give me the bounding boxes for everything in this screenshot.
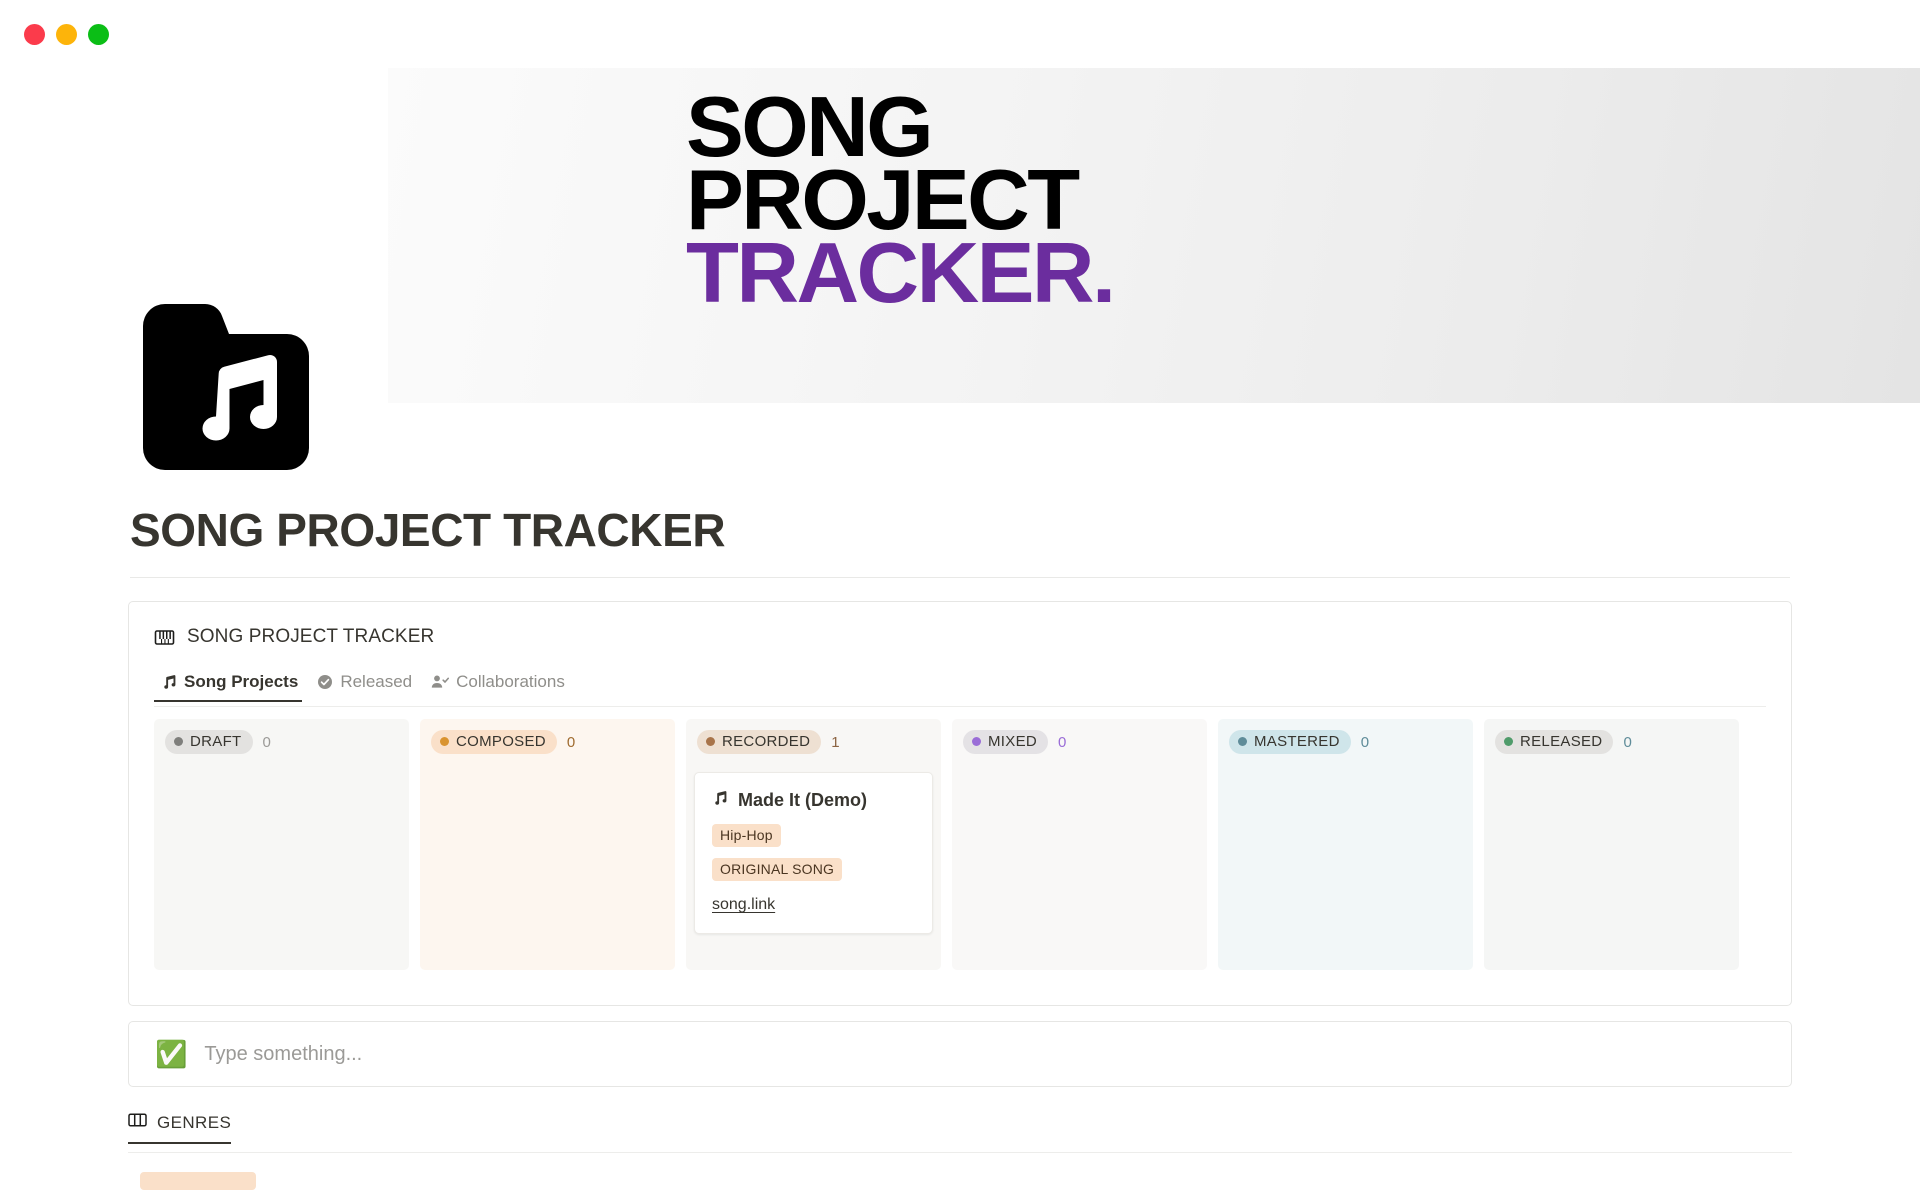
status-dot-icon: [174, 737, 183, 746]
card-title: Made It (Demo): [738, 790, 867, 811]
kanban-column-recorded: RECORDED 1 Made It (Demo) Hip: [686, 719, 941, 970]
card-tag-genre: Hip-Hop: [712, 824, 781, 847]
column-body-recorded[interactable]: Made It (Demo) Hip-Hop ORIGINAL SONG son…: [686, 765, 941, 970]
kanban-column-composed: COMPOSED 0: [420, 719, 675, 970]
white-check-mark-emoji-icon: ✅: [155, 1041, 187, 1067]
card-tag-genre-wrap: Hip-Hop: [712, 824, 915, 858]
status-dot-icon: [972, 737, 981, 746]
board-columns-icon: [128, 1112, 147, 1133]
status-badge-mastered: MASTERED: [1229, 730, 1351, 754]
type-something-bar[interactable]: ✅ Type something...: [128, 1021, 1792, 1087]
status-dot-icon: [706, 737, 715, 746]
music-folder-icon[interactable]: [143, 304, 309, 470]
status-badge-recorded: RECORDED: [697, 730, 821, 754]
status-badge-mixed: MIXED: [963, 730, 1048, 754]
status-badge-released: RELEASED: [1495, 730, 1613, 754]
column-header-draft[interactable]: DRAFT 0: [154, 719, 409, 765]
column-body-mastered[interactable]: [1218, 765, 1473, 970]
column-header-recorded[interactable]: RECORDED 1: [686, 719, 941, 765]
card-tag-type: ORIGINAL SONG: [712, 858, 842, 881]
column-label: RELEASED: [1520, 733, 1602, 750]
database-title[interactable]: SONG PROJECT TRACKER: [187, 626, 434, 648]
column-body-released[interactable]: [1484, 765, 1739, 970]
column-count: 0: [1361, 734, 1369, 751]
kanban-card[interactable]: Made It (Demo) Hip-Hop ORIGINAL SONG son…: [694, 772, 933, 934]
kanban-column-draft: DRAFT 0: [154, 719, 409, 970]
column-count: 0: [1058, 734, 1066, 751]
column-header-composed[interactable]: COMPOSED 0: [420, 719, 675, 765]
status-badge-draft: DRAFT: [165, 730, 253, 754]
column-count: 0: [1623, 734, 1631, 751]
column-label: MIXED: [988, 733, 1037, 750]
genres-tab-row: GENRES: [128, 1112, 1792, 1144]
window-minimize-button[interactable]: [56, 24, 77, 45]
kanban-board: DRAFT 0 COMPOSED 0 RECORDED: [154, 719, 1791, 970]
check-circle-icon: [317, 674, 333, 690]
kanban-column-mastered: MASTERED 0: [1218, 719, 1473, 970]
cover-title-line3: TRACKER.: [686, 237, 1114, 310]
database-header: SONG PROJECT TRACKER: [129, 602, 1791, 648]
column-count: 1: [831, 734, 839, 751]
tab-song-projects-label: Song Projects: [184, 672, 298, 692]
type-something-placeholder[interactable]: Type something...: [204, 1043, 362, 1066]
column-body-composed[interactable]: [420, 765, 675, 970]
tab-song-projects[interactable]: Song Projects: [154, 668, 310, 702]
column-label: RECORDED: [722, 733, 810, 750]
music-note-icon: [161, 674, 177, 690]
card-link[interactable]: song.link: [712, 896, 915, 914]
person-check-icon: [431, 674, 449, 690]
genres-section: GENRES: [128, 1112, 1792, 1144]
status-dot-icon: [1504, 737, 1513, 746]
tab-genres-label: GENRES: [157, 1113, 231, 1133]
status-dot-icon: [440, 737, 449, 746]
tab-genres[interactable]: GENRES: [128, 1112, 245, 1144]
page-title[interactable]: SONG PROJECT TRACKER: [130, 503, 1830, 557]
piano-icon: [154, 627, 175, 648]
column-count: 0: [567, 734, 575, 751]
database-block: SONG PROJECT TRACKER Song Projects Relea…: [128, 601, 1792, 1006]
column-label: COMPOSED: [456, 733, 546, 750]
tab-collaborations[interactable]: Collaborations: [424, 668, 577, 702]
column-body-draft[interactable]: [154, 765, 409, 970]
kanban-column-released: RELEASED 0: [1484, 719, 1739, 970]
card-tag-type-wrap: ORIGINAL SONG: [712, 858, 915, 892]
column-header-mixed[interactable]: MIXED 0: [952, 719, 1207, 765]
status-badge-composed: COMPOSED: [431, 730, 557, 754]
column-header-released[interactable]: RELEASED 0: [1484, 719, 1739, 765]
page-cover-banner[interactable]: SONG PROJECT TRACKER.: [388, 68, 1920, 403]
cover-title: SONG PROJECT TRACKER.: [686, 91, 1114, 310]
column-body-mixed[interactable]: [952, 765, 1207, 970]
tab-released-label: Released: [340, 672, 412, 692]
window-maximize-button[interactable]: [88, 24, 109, 45]
genres-tag-chip[interactable]: [140, 1172, 256, 1190]
title-divider: [130, 577, 1790, 578]
column-header-mastered[interactable]: MASTERED 0: [1218, 719, 1473, 765]
database-view-tabs: Song Projects Released Collaborations: [154, 668, 1791, 702]
tab-collaborations-label: Collaborations: [456, 672, 565, 692]
column-label: DRAFT: [190, 733, 242, 750]
genres-divider: [128, 1152, 1792, 1153]
tab-released[interactable]: Released: [310, 668, 424, 702]
music-note-icon: [712, 790, 728, 811]
card-title-row: Made It (Demo): [712, 790, 915, 811]
status-dot-icon: [1238, 737, 1247, 746]
column-count: 0: [263, 734, 271, 751]
tabs-divider: [154, 706, 1766, 707]
column-label: MASTERED: [1254, 733, 1340, 750]
window-close-button[interactable]: [24, 24, 45, 45]
kanban-column-mixed: MIXED 0: [952, 719, 1207, 970]
window-titlebar: [0, 0, 1920, 68]
